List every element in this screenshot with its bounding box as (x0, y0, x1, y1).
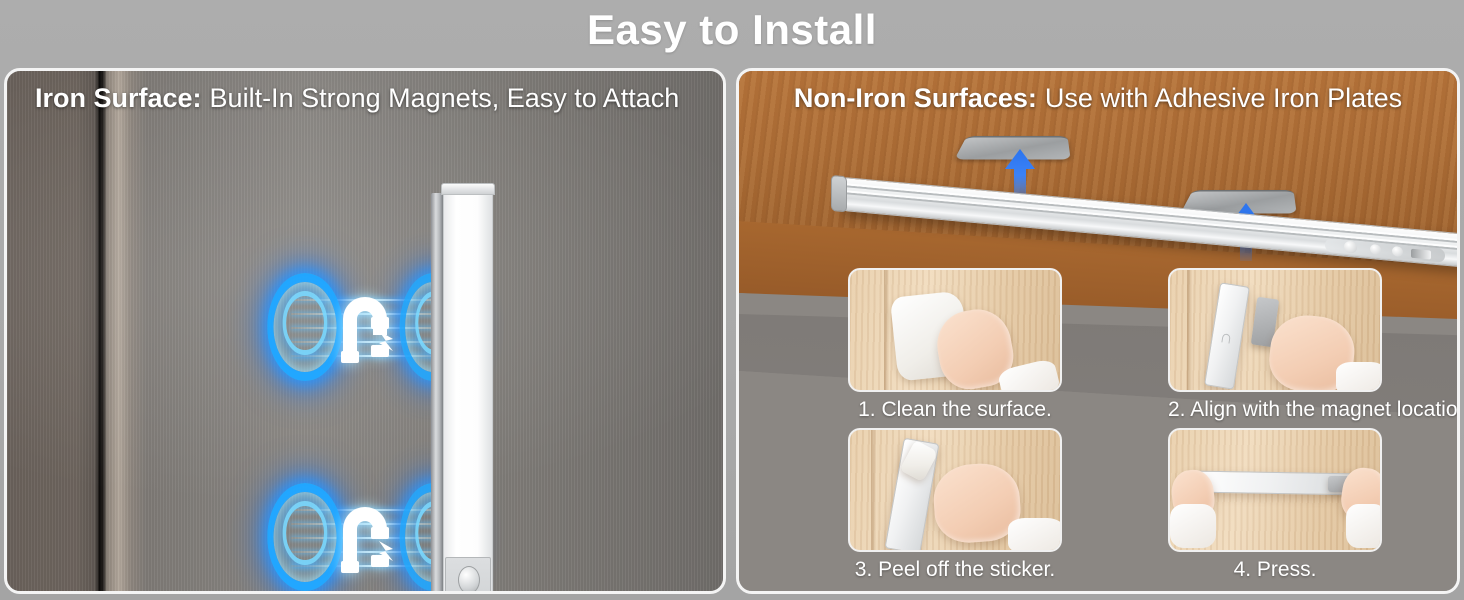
magnet-glow-ring-inner-left (283, 501, 328, 565)
step-3-caption: 3. Peel off the sticker. (848, 558, 1062, 582)
fridge-door-seam (99, 71, 101, 591)
magnet-mark-icon: ∩ (1218, 326, 1234, 349)
mode-switch[interactable] (1411, 249, 1431, 260)
wall-seam (1187, 270, 1193, 390)
magnet-glow-ring-inner-left (283, 291, 328, 355)
pir-motion-sensor-icon (458, 566, 480, 594)
step-4: 4. Press. (1168, 428, 1382, 582)
power-button[interactable] (1392, 246, 1403, 257)
header-iron-label: Iron Surface: (35, 83, 202, 113)
header-non-iron-surfaces: Non-Iron Surfaces:Use with Adhesive Iron… (739, 71, 1457, 124)
step-1: 1. Clean the surface. (848, 268, 1062, 422)
header-iron-surface: Iron Surface:Built-In Strong Magnets, Ea… (7, 71, 723, 124)
step-3: 3. Peel off the sticker. (848, 428, 1062, 582)
brightness-button[interactable] (1370, 244, 1381, 255)
sleeve-left (1170, 504, 1216, 548)
panel-non-iron-surfaces: Non-Iron Surfaces:Use with Adhesive Iron… (736, 68, 1460, 594)
step-4-photo (1168, 428, 1382, 552)
page-title: Easy to Install (0, 6, 1464, 54)
light-bar-vertical (431, 183, 493, 594)
step-1-photo (848, 268, 1062, 392)
sleeve-right (1346, 504, 1382, 548)
step-1-caption: 1. Clean the surface. (848, 398, 1062, 422)
horseshoe-magnet-icon (335, 293, 409, 363)
step-3-photo (848, 428, 1062, 552)
light-bar-diffuser (443, 183, 493, 594)
light-bar-end-cap-left (831, 175, 847, 212)
step-2-caption: 2. Align with the magnet location. (1168, 398, 1382, 422)
light-bar-control-panel (445, 557, 491, 594)
header-non-iron-label: Non-Iron Surfaces: (794, 83, 1037, 113)
panel-iron-surface: Iron Surface:Built-In Strong Magnets, Ea… (4, 68, 726, 594)
step-2: ∩ 2. Align with the magnet location. (1168, 268, 1382, 422)
wall-seam (884, 270, 890, 390)
sleeve (1008, 518, 1062, 552)
sleeve (1336, 362, 1382, 392)
horseshoe-magnet-icon (335, 503, 409, 573)
light-bar-end-cap (441, 183, 495, 195)
wall-seam (871, 430, 877, 550)
infographic-root: Easy to Install Iron Surface:Built-In St… (0, 0, 1464, 600)
header-non-iron-detail: Use with Adhesive Iron Plates (1045, 83, 1402, 113)
step-4-caption: 4. Press. (1168, 558, 1382, 582)
step-2-photo: ∩ (1168, 268, 1382, 392)
light-bar-mini: ∩ (1204, 282, 1250, 389)
light-bar-side-profile (431, 193, 443, 594)
header-iron-detail: Built-In Strong Magnets, Easy to Attach (210, 83, 680, 113)
pir-motion-sensor-icon (1344, 241, 1357, 254)
